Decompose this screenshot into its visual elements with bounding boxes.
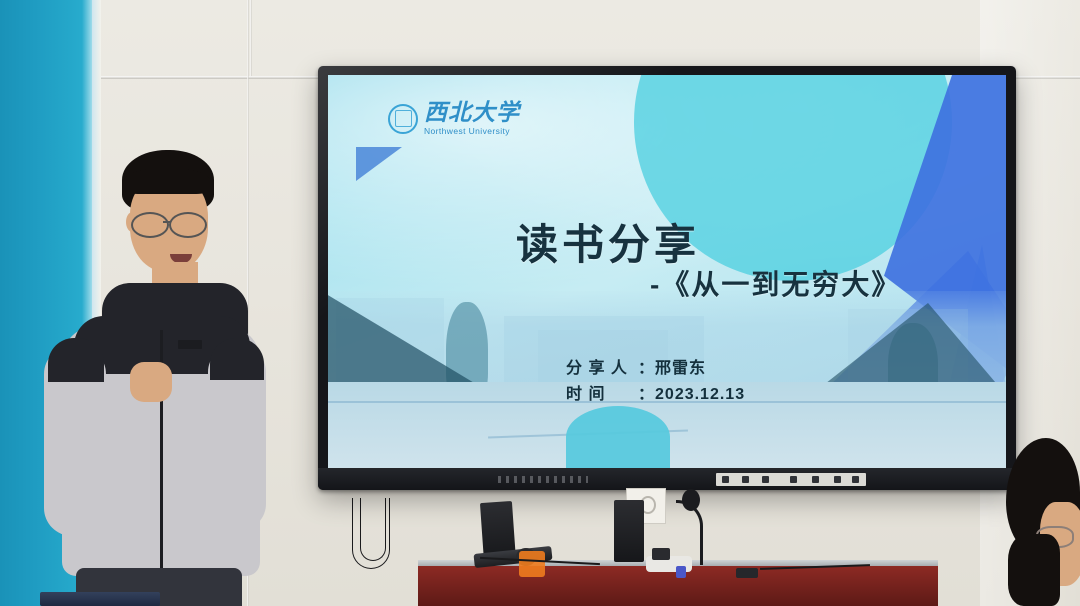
control-key-1[interactable] [722,476,729,483]
keyboard[interactable] [40,592,160,606]
control-key-4[interactable] [790,476,797,483]
display-control-keys[interactable] [716,473,866,486]
cyan-dome-bottom [566,406,670,468]
desk-small-device [676,566,686,578]
glasses-bridge-icon [163,221,171,223]
audience-hair-lower [1008,534,1060,606]
presenter [30,150,280,606]
presenter-fringe [124,168,210,194]
control-key-6[interactable] [834,476,841,483]
control-key-3[interactable] [762,476,769,483]
slide-meta: 分 享 人：邢雷东 时 间：2023.12.13 [566,356,745,409]
wall-cable-b [360,498,386,561]
meta-label-presenter: 分 享 人 [566,356,638,382]
audience-member [1006,438,1080,606]
presentation-slide: 西北大学 Northwest University 读书分享 -《从一到无穷大》… [328,75,1006,468]
university-name-en: Northwest University [424,126,520,136]
blue-triangle-decoration [356,147,402,181]
gooseneck-mic-head [682,489,700,511]
glasses-left-lens-icon [131,212,169,238]
presenter-shoulder-left [48,338,104,382]
desk-remote[interactable] [736,568,758,578]
university-logo: 西北大学 Northwest University [388,101,520,136]
presenter-shoulder-right [210,338,264,380]
seal-inner-glyph [395,110,412,127]
meta-row-presenter: 分 享 人：邢雷东 [566,356,745,382]
flat-panel-display[interactable]: 西北大学 Northwest University 读书分享 -《从一到无穷大》… [318,66,1016,490]
gooseneck-mic-switch[interactable] [652,548,670,560]
meta-value-date: 2023.12.13 [655,386,745,403]
presenter-hand [130,362,172,402]
classroom-photo-scene: 西北大学 Northwest University 读书分享 -《从一到无穷大》… [0,0,1080,606]
university-seal-icon [388,104,418,134]
university-name-cn: 西北大学 [424,101,520,124]
display-brand-logo [498,476,588,483]
meta-value-presenter: 邢雷东 [655,360,706,377]
wall-seam-vertical-top [250,0,252,76]
speaker-right [614,500,644,562]
presenter-jacket-brand-tag [178,340,202,349]
control-key-7[interactable] [852,476,859,483]
meta-label-date: 时 间 [566,382,638,408]
glasses-right-lens-icon [169,212,207,238]
display-bottom-bezel [318,468,1016,490]
slide-subtitle: -《从一到无穷大》 [650,263,901,303]
meta-row-date: 时 间：2023.12.13 [566,382,745,408]
display-screen[interactable]: 西北大学 Northwest University 读书分享 -《从一到无穷大》… [328,75,1006,468]
control-key-2[interactable] [742,476,749,483]
control-key-5[interactable] [812,476,819,483]
meta-sep-date: ： [638,386,655,403]
meta-sep-presenter: ： [638,360,655,377]
microphone-foam-cover [519,551,545,577]
